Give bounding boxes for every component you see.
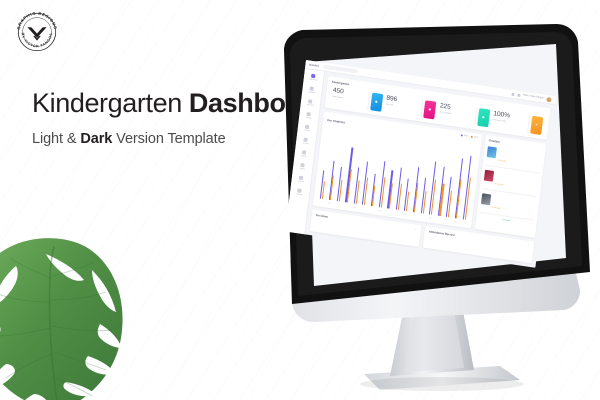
- graphic-designs-badge: GRAPHIC DESIGNS BY VICTOR TANGOS: [13, 8, 61, 56]
- svg-text:GRAPHIC DESIGNS: GRAPHIC DESIGNS: [16, 11, 58, 30]
- subtitle-post: Version Template: [116, 131, 225, 147]
- subtitle-bold: Dark: [80, 131, 112, 147]
- subtitle-pre: Light &: [32, 131, 76, 147]
- monstera-leaf: [0, 238, 138, 400]
- title-light: Kindergarten: [32, 88, 182, 118]
- imac-device: [268, 22, 600, 400]
